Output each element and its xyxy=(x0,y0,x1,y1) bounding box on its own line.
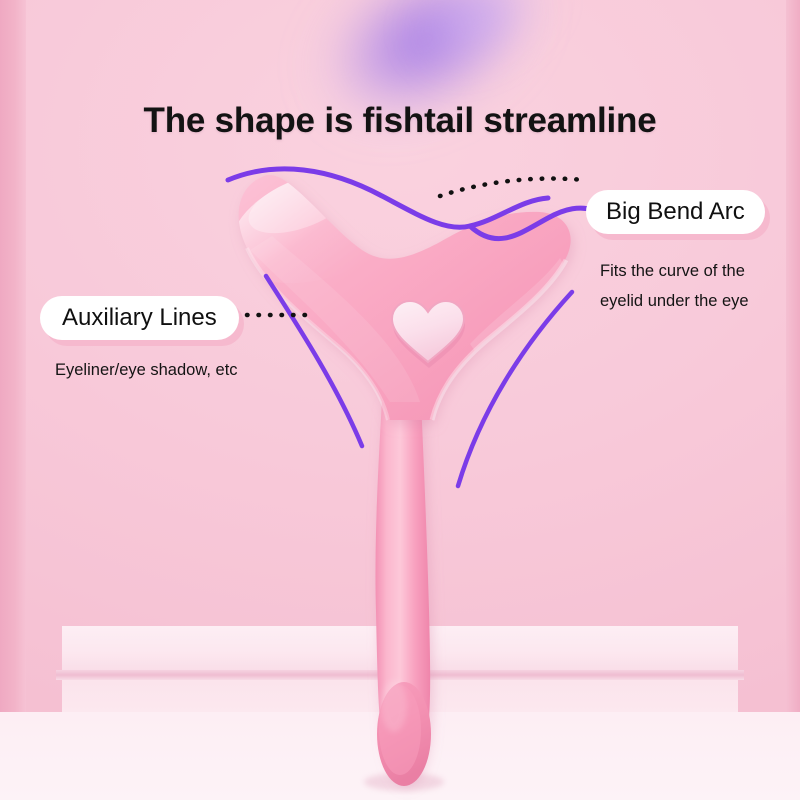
callout-caption-auxiliary-lines: Eyeliner/eye shadow, etc xyxy=(55,355,238,385)
product-marketing-image: The shape is fishtail streamline Auxilia… xyxy=(0,0,800,800)
guide-curve-top-right xyxy=(470,208,594,239)
guide-curve-right-arc xyxy=(458,292,572,486)
callout-badge-auxiliary-lines: Auxiliary Lines xyxy=(40,296,239,340)
page-title: The shape is fishtail streamline xyxy=(0,101,800,141)
guide-curve-top-left xyxy=(228,169,548,227)
callout-caption-big-bend-arc: Fits the curve of the eyelid under the e… xyxy=(600,256,749,316)
callout-caption-big-bend-arc-line-2: eyelid under the eye xyxy=(600,286,749,316)
callout-caption-big-bend-arc-line-1: Fits the curve of the xyxy=(600,256,749,286)
leader-line-big-bend-arc xyxy=(440,179,584,196)
callout-badge-big-bend-arc: Big Bend Arc xyxy=(586,190,765,234)
guide-curve-left-arc xyxy=(266,276,362,446)
